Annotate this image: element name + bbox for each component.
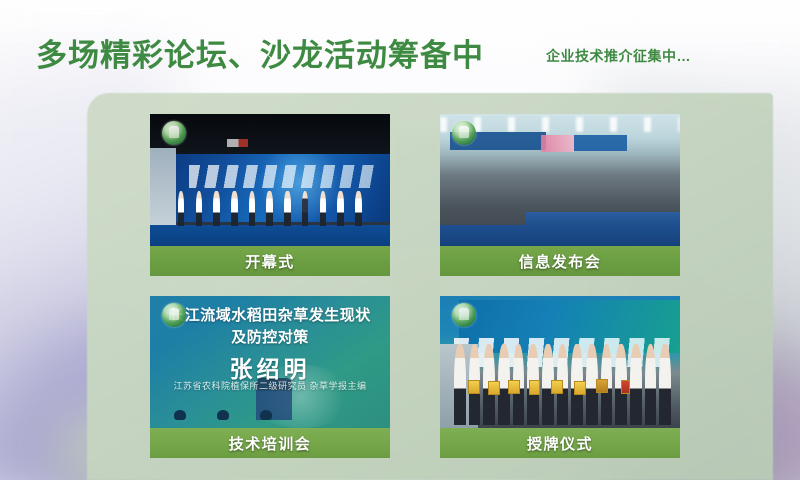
- page-header: 多场精彩论坛、沙龙活动筹备中 企业技术推介征集中…: [0, 30, 800, 85]
- ceiling-region: [150, 114, 390, 154]
- stage-front: [150, 225, 390, 246]
- gallery-card-plaque-ceremony[interactable]: 授牌仪式: [440, 296, 680, 458]
- watermark-emblem-icon: [452, 121, 476, 145]
- photo-opening-ceremony: [150, 114, 390, 246]
- award-recipients-row: [450, 344, 676, 426]
- photo-information-release: [440, 114, 680, 246]
- photo-plaque-ceremony: [440, 296, 680, 428]
- card-caption-opening-ceremony: 开幕式: [150, 246, 390, 276]
- slide-title-line2: 及防控对策: [150, 326, 390, 347]
- led-screen-text: [189, 165, 377, 188]
- exit-sign-icon: [227, 139, 249, 147]
- card-caption-technical-training: 技术培训会: [150, 428, 390, 458]
- slide-speaker-affiliation: 江苏省农科院植保所二级研究员 杂草学报主编: [150, 379, 390, 392]
- slide-title-line1: 长江流域水稻田杂草发生现状: [150, 304, 390, 325]
- gallery-card-information-release[interactable]: 信息发布会: [440, 114, 680, 276]
- stage-banner-center: [541, 135, 575, 152]
- gallery-card-technical-training[interactable]: 长江流域水稻田杂草发生现状 及防控对策 张绍明 江苏省农科院植保所二级研究员 杂…: [150, 296, 390, 458]
- gallery-card-opening-ceremony[interactable]: 开幕式: [150, 114, 390, 276]
- page-subtitle: 企业技术推介征集中…: [546, 46, 691, 66]
- page-title: 多场精彩论坛、沙龙活动筹备中: [36, 30, 484, 75]
- guest-lineup: [174, 191, 371, 227]
- photo-technical-training: 长江流域水稻田杂草发生现状 及防控对策 张绍明 江苏省农科院植保所二级研究员 杂…: [150, 296, 390, 428]
- hall-pillar: [150, 148, 176, 227]
- seat-row-base: [440, 225, 680, 246]
- card-caption-plaque-ceremony: 授牌仪式: [440, 428, 680, 458]
- card-caption-information-release: 信息发布会: [440, 246, 680, 276]
- watermark-emblem-icon: [162, 121, 186, 145]
- ceiling-lights: [440, 117, 680, 133]
- stage-banner-right: [574, 135, 627, 151]
- watermark-emblem-icon: [452, 303, 476, 327]
- watermark-emblem-icon: [162, 303, 186, 327]
